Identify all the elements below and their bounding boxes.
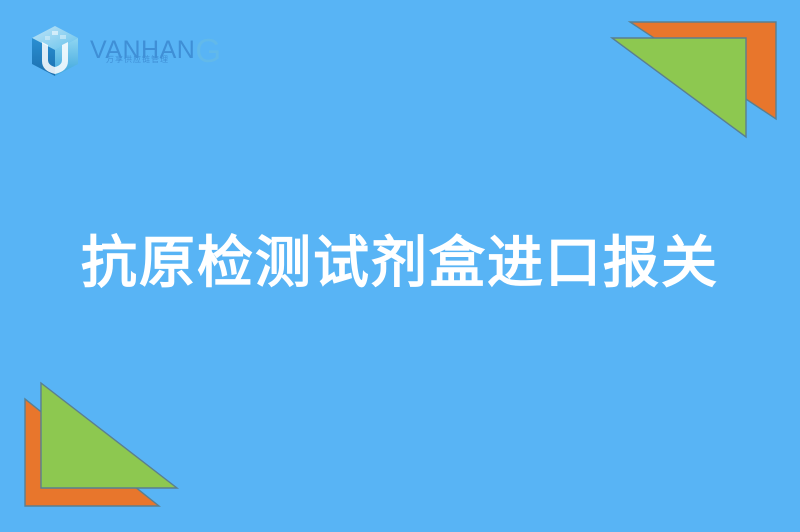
vanhang-cube-logo-icon bbox=[26, 22, 84, 80]
orange-triangle-top-right bbox=[630, 22, 776, 119]
logo-wordmark-g: G bbox=[195, 32, 221, 69]
bottom-left-triangle-decoration bbox=[0, 370, 200, 532]
green-triangle-bottom-left bbox=[41, 383, 177, 488]
logo-text-block: VANHANG 万享供应链管理 bbox=[90, 28, 210, 74]
logo-subtitle: 万享供应链管理 bbox=[106, 56, 169, 64]
orange-triangle-bottom-left bbox=[25, 399, 159, 506]
promo-banner: VANHANG 万享供应链管理 抗原检测试剂盒进口报关 bbox=[0, 0, 800, 532]
green-triangle-top-right bbox=[612, 38, 746, 137]
banner-headline: 抗原检测试剂盒进口报关 bbox=[0, 232, 800, 296]
top-right-triangle-decoration bbox=[600, 0, 800, 160]
brand-logo: VANHANG 万享供应链管理 bbox=[26, 22, 210, 80]
